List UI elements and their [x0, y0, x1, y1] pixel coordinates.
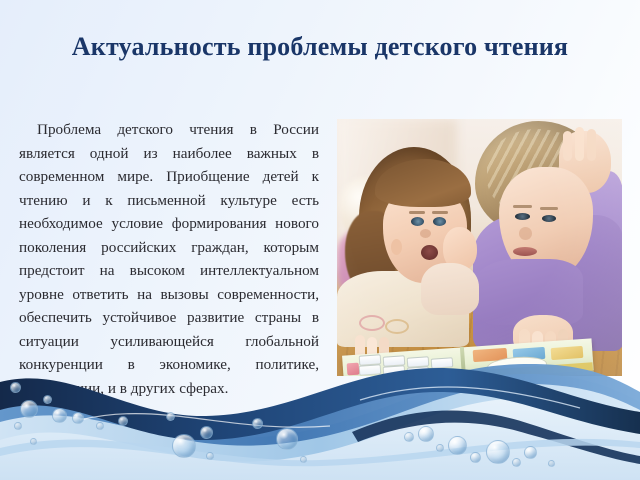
water-bubble	[448, 436, 467, 455]
water-bubble	[404, 432, 414, 442]
water-bubble	[300, 456, 307, 463]
slide-canvas: Актуальность проблемы детского чтения Пр…	[0, 0, 640, 480]
water-bubble	[72, 412, 84, 424]
water-bubble	[206, 452, 214, 460]
water-bubble	[436, 444, 444, 452]
water-bubble	[512, 458, 521, 467]
water-bubble	[200, 426, 213, 439]
water-bubble	[118, 416, 128, 426]
water-bubble	[30, 438, 37, 445]
water-bubble	[52, 408, 67, 423]
water-bubble	[418, 426, 434, 442]
water-bubble	[172, 434, 196, 458]
photo-light-overlay	[337, 119, 622, 376]
page-title: Актуальность проблемы детского чтения	[0, 30, 640, 64]
water-bubble	[276, 428, 298, 450]
water-bubble	[524, 446, 537, 459]
water-bubble	[96, 422, 104, 430]
body-paragraph: Проблема детского чтения в России являет…	[19, 118, 319, 400]
photo-mother-and-child-reading	[337, 119, 622, 376]
water-bubble	[548, 460, 555, 467]
water-bubble	[252, 418, 263, 429]
water-bubble	[14, 422, 22, 430]
water-bubble	[486, 440, 510, 464]
water-bubble	[470, 452, 481, 463]
water-bubble	[20, 400, 38, 418]
water-bubble	[166, 412, 175, 421]
